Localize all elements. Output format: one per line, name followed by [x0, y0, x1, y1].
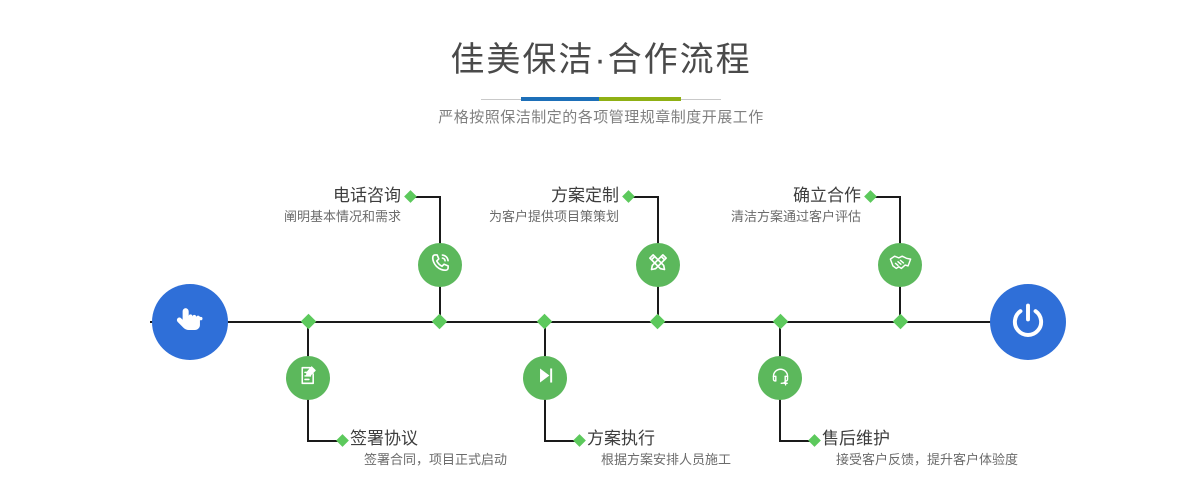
- node-icon-customer-service: [758, 356, 802, 400]
- process-flow-infographic: 佳美保洁·合作流程 严格按照保洁制定的各项管理规章制度开展工作: [0, 0, 1202, 502]
- node-icon-phone-call: [418, 243, 462, 287]
- phone-call-icon: [427, 250, 453, 281]
- timeline-end-node: [990, 284, 1066, 360]
- timeline-axis: [150, 321, 1060, 323]
- node-icon-pencil-ruler: [636, 243, 680, 287]
- node-icon-document-edit: [286, 356, 330, 400]
- step-label-establish-cooperation: 确立合作 清洁方案通过客户评估: [586, 185, 861, 227]
- axis-marker-2: [301, 314, 317, 330]
- pencil-ruler-icon: [645, 250, 671, 281]
- node-icon-play-skip: [523, 356, 567, 400]
- timeline-start-node: [152, 284, 228, 360]
- power-icon: [1007, 299, 1049, 346]
- label-marker-2: [336, 434, 349, 447]
- axis-marker-4: [537, 314, 553, 330]
- node-icon-handshake: [878, 243, 922, 287]
- step-title: 售后维护: [822, 428, 1152, 450]
- play-skip-icon: [533, 363, 558, 393]
- step-label-plan-customization: 方案定制 为客户提供项目策策划: [344, 185, 619, 227]
- step-desc: 接受客户反馈，提升客户体验度: [822, 450, 1152, 470]
- pointing-hand-icon: [170, 300, 210, 345]
- timeline-diagram: 电话咨询 阐明基本情况和需求 签署协议 签署合同，项目正式启动: [0, 0, 1202, 502]
- axis-marker-1: [432, 314, 448, 330]
- step-desc: 清洁方案通过客户评估: [586, 207, 861, 227]
- handshake-icon: [887, 249, 914, 281]
- step-title: 方案定制: [344, 185, 619, 207]
- axis-marker-6: [773, 314, 789, 330]
- document-edit-icon: [296, 363, 321, 393]
- customer-service-icon: [768, 363, 793, 393]
- label-marker-5: [864, 190, 877, 203]
- step-desc: 为客户提供项目策策划: [344, 207, 619, 227]
- step-label-after-sales-maintenance: 售后维护 接受客户反馈，提升客户体验度: [822, 428, 1152, 470]
- step-title: 确立合作: [586, 185, 861, 207]
- axis-marker-5: [893, 314, 909, 330]
- axis-marker-3: [650, 314, 666, 330]
